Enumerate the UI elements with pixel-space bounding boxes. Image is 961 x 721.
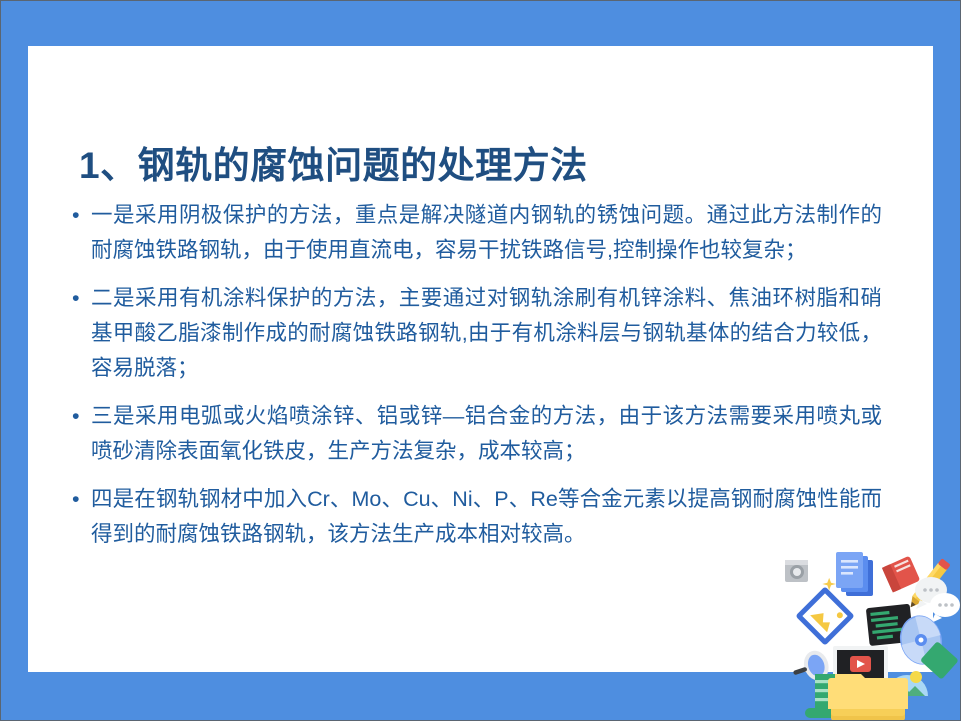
list-item-text: 一是采用阴极保护的方法，重点是解决隧道内钢轨的锈蚀问题。通过此方法制作的耐腐蚀铁… bbox=[91, 198, 882, 268]
list-item-text: 二是采用有机涂料保护的方法，主要通过对钢轨涂刷有机锌涂料、焦油环树脂和硝基甲酸乙… bbox=[91, 281, 882, 386]
bullet-list: • 一是采用阴极保护的方法，重点是解决隧道内钢轨的锈蚀问题。通过此方法制作的耐腐… bbox=[70, 198, 882, 552]
list-item: • 三是采用电弧或火焰喷涂锌、铝或锌—铝合金的方法，由于该方法需要采用喷丸或喷砂… bbox=[70, 399, 882, 469]
list-item: • 一是采用阴极保护的方法，重点是解决隧道内钢轨的锈蚀问题。通过此方法制作的耐腐… bbox=[70, 198, 882, 268]
slide-canvas: 1、钢轨的腐蚀问题的处理方法 • 一是采用阴极保护的方法，重点是解决隧道内钢轨的… bbox=[0, 0, 961, 721]
list-item: • 二是采用有机涂料保护的方法，主要通过对钢轨涂刷有机锌涂料、焦油环树脂和硝基甲… bbox=[70, 281, 882, 386]
bullet-marker-icon: • bbox=[72, 482, 80, 517]
bullet-marker-icon: • bbox=[72, 399, 80, 434]
list-item-text: 四是在钢轨钢材中加入Cr、Mo、Cu、Ni、P、Re等合金元素以提高钢耐腐蚀性能… bbox=[91, 482, 882, 552]
bullet-marker-icon: • bbox=[72, 198, 80, 233]
bullet-marker-icon: • bbox=[72, 281, 80, 316]
list-item: • 四是在钢轨钢材中加入Cr、Mo、Cu、Ni、P、Re等合金元素以提高钢耐腐蚀… bbox=[70, 482, 882, 552]
list-item-text: 三是采用电弧或火焰喷涂锌、铝或锌—铝合金的方法，由于该方法需要采用喷丸或喷砂清除… bbox=[91, 399, 882, 469]
page-title: 1、钢轨的腐蚀问题的处理方法 bbox=[79, 145, 879, 188]
